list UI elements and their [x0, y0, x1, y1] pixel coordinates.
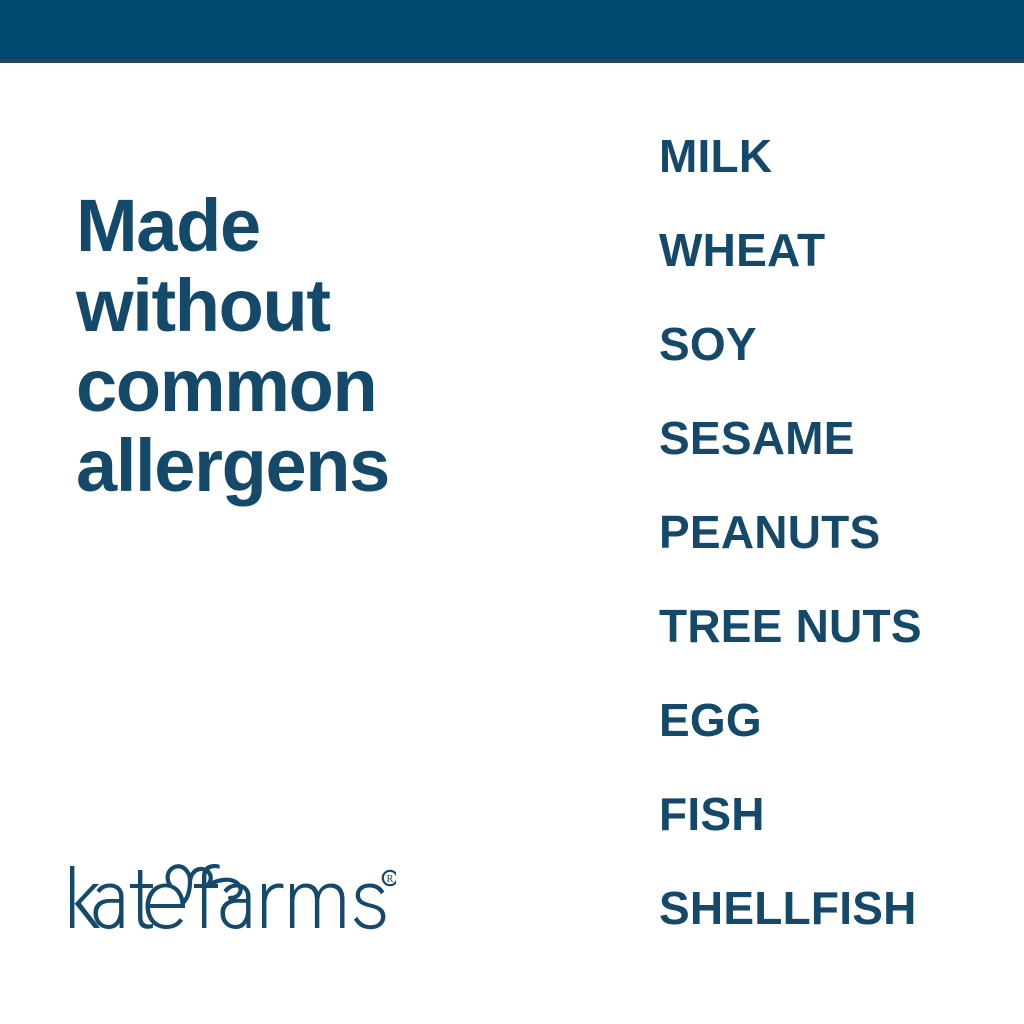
list-item: SOY — [659, 321, 999, 415]
katefarms-wordmark — [70, 864, 385, 929]
allergen-info-poster: Made without common allergens MILK WHEAT… — [0, 0, 1024, 1024]
page-title: Made without common allergens — [76, 186, 596, 507]
list-item: EGG — [659, 697, 999, 791]
svg-text:R: R — [386, 874, 393, 885]
list-item: PEANUTS — [659, 509, 999, 603]
allergen-list: MILK WHEAT SOY SESAME PEANUTS TREE NUTS … — [659, 133, 999, 979]
katefarms-logo-svg: R — [66, 852, 396, 938]
list-item: FISH — [659, 791, 999, 885]
list-item: TREE NUTS — [659, 603, 999, 697]
registered-trademark-icon: R — [383, 871, 396, 885]
list-item: SESAME — [659, 415, 999, 509]
brand-logo: R — [66, 852, 396, 938]
list-item: MILK — [659, 133, 999, 227]
list-item: WHEAT — [659, 227, 999, 321]
top-decorative-band — [0, 0, 1024, 59]
list-item: SHELLFISH — [659, 885, 999, 979]
top-band-bottom-edge — [0, 59, 1024, 63]
